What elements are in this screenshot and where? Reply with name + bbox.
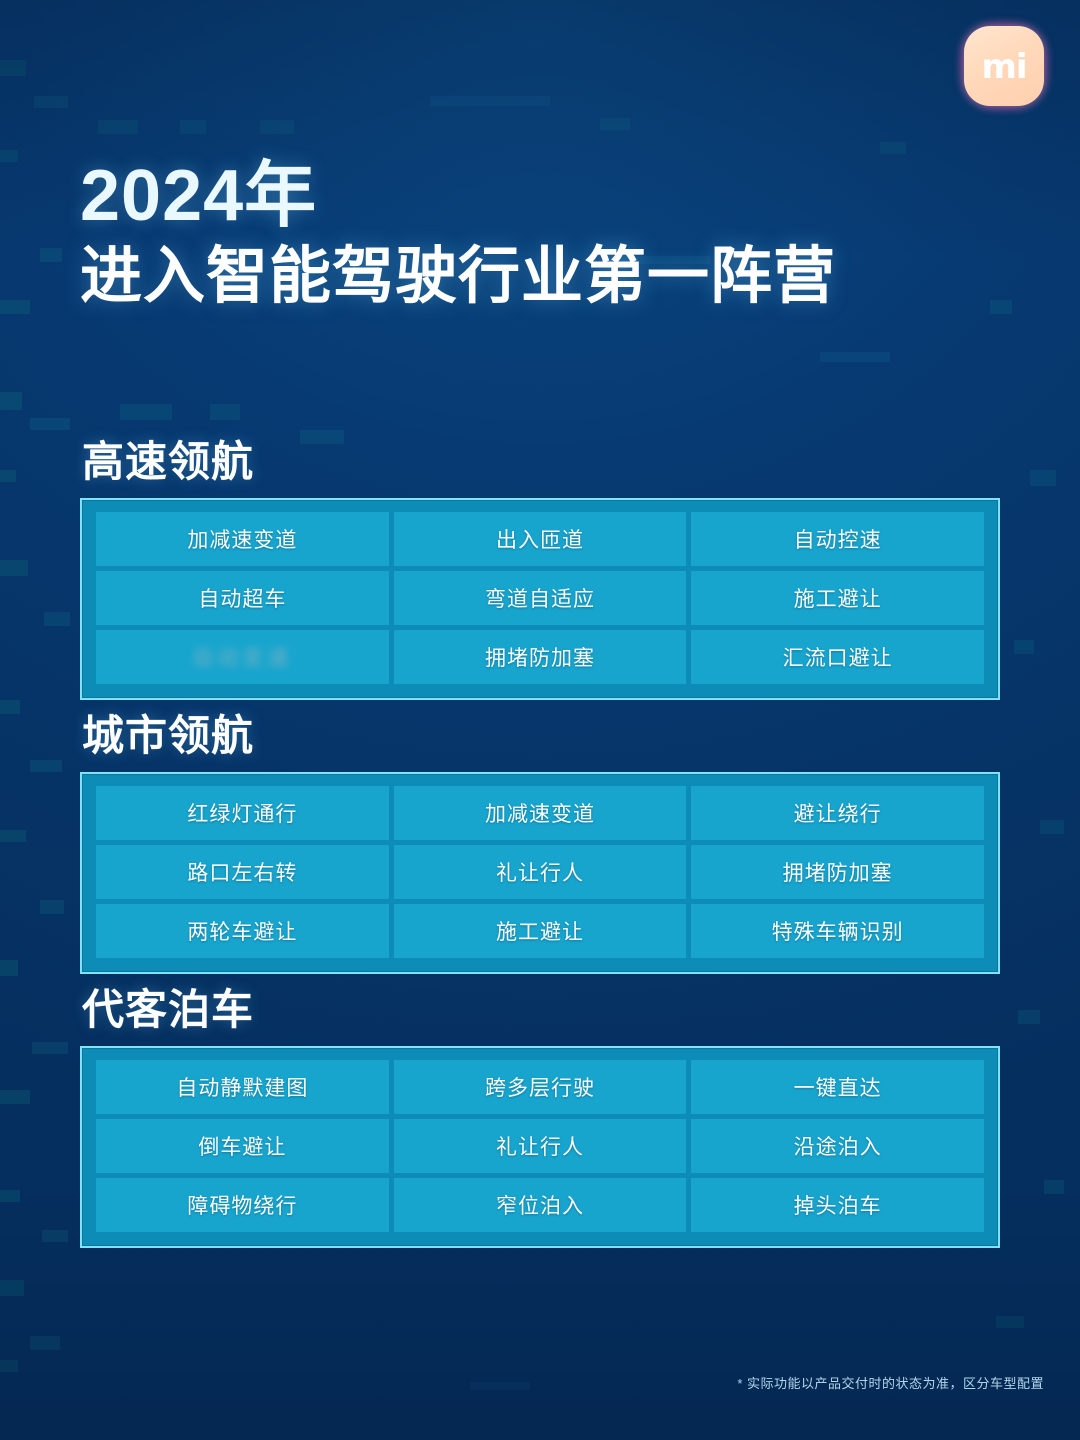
headline: 2024年 进入智能驾驶行业第一阵营 (80, 160, 836, 315)
feature-label: 沿途泊入 (794, 1131, 882, 1161)
feature-label: 拥堵防加塞 (783, 857, 893, 887)
feature-label: 障碍物绕行 (187, 1190, 297, 1220)
feature-label: 自动变道 (192, 642, 292, 672)
feature-cell[interactable]: 路口左右转 (96, 845, 389, 899)
feature-cell[interactable]: 出入匝道 (394, 512, 687, 566)
feature-label: 窄位泊入 (496, 1190, 584, 1220)
feature-grid: 自动静默建图 跨多层行驶 一键直达 倒车避让 礼让行人 沿途泊入 障碍物绕行 窄… (96, 1060, 984, 1232)
disclaimer-text: * 实际功能以产品交付时的状态为准，区分车型配置 (737, 1373, 1044, 1392)
section-valet-parking: 代客泊车 自动静默建图 跨多层行驶 一键直达 倒车避让 礼让行人 沿途泊入 障碍… (80, 988, 1000, 1248)
section-highway: 高速领航 加减速变道 出入匝道 自动控速 自动超车 弯道自适应 施工避让 自动变… (80, 440, 1000, 700)
feature-label: 掉头泊车 (794, 1190, 882, 1220)
feature-label: 拥堵防加塞 (485, 642, 595, 672)
feature-label: 汇流口避让 (783, 642, 893, 672)
feature-panel: 加减速变道 出入匝道 自动控速 自动超车 弯道自适应 施工避让 自动变道 拥堵防… (80, 498, 1000, 700)
poster-root: mi 2024年 进入智能驾驶行业第一阵营 高速领航 加减速变道 出入匝道 自动… (0, 0, 1080, 1440)
feature-cell[interactable]: 掉头泊车 (691, 1178, 984, 1232)
xiaomi-logo: mi (964, 26, 1044, 106)
feature-cell[interactable]: 施工避让 (691, 571, 984, 625)
feature-label: 避让绕行 (794, 798, 882, 828)
feature-cell[interactable]: 倒车避让 (96, 1119, 389, 1173)
feature-grid: 红绿灯通行 加减速变道 避让绕行 路口左右转 礼让行人 拥堵防加塞 两轮车避让 … (96, 786, 984, 958)
feature-label: 自动控速 (794, 524, 882, 554)
feature-cell-obscured[interactable]: 自动变道 (96, 630, 389, 684)
feature-label: 礼让行人 (496, 1131, 584, 1161)
section-title: 高速领航 (82, 440, 1000, 484)
feature-cell[interactable]: 拥堵防加塞 (691, 845, 984, 899)
headline-statement: 进入智能驾驶行业第一阵营 (80, 239, 836, 315)
feature-label: 跨多层行驶 (485, 1072, 595, 1102)
feature-label: 加减速变道 (485, 798, 595, 828)
feature-label: 加减速变道 (187, 524, 297, 554)
feature-cell[interactable]: 加减速变道 (96, 512, 389, 566)
feature-cell[interactable]: 加减速变道 (394, 786, 687, 840)
feature-cell[interactable]: 礼让行人 (394, 1119, 687, 1173)
feature-cell[interactable]: 自动控速 (691, 512, 984, 566)
feature-label: 倒车避让 (198, 1131, 286, 1161)
feature-cell[interactable]: 弯道自适应 (394, 571, 687, 625)
feature-cell[interactable]: 礼让行人 (394, 845, 687, 899)
feature-cell[interactable]: 汇流口避让 (691, 630, 984, 684)
feature-label: 弯道自适应 (485, 583, 595, 613)
feature-cell[interactable]: 两轮车避让 (96, 904, 389, 958)
feature-cell[interactable]: 红绿灯通行 (96, 786, 389, 840)
feature-cell[interactable]: 自动静默建图 (96, 1060, 389, 1114)
feature-cell[interactable]: 沿途泊入 (691, 1119, 984, 1173)
feature-label: 出入匝道 (496, 524, 584, 554)
feature-label: 自动超车 (198, 583, 286, 613)
feature-panel: 自动静默建图 跨多层行驶 一键直达 倒车避让 礼让行人 沿途泊入 障碍物绕行 窄… (80, 1046, 1000, 1248)
feature-cell[interactable]: 拥堵防加塞 (394, 630, 687, 684)
feature-label: 施工避让 (496, 916, 584, 946)
feature-cell[interactable]: 障碍物绕行 (96, 1178, 389, 1232)
logo-squircle: mi (964, 26, 1044, 106)
headline-year: 2024年 (80, 160, 836, 233)
feature-cell[interactable]: 窄位泊入 (394, 1178, 687, 1232)
feature-grid: 加减速变道 出入匝道 自动控速 自动超车 弯道自适应 施工避让 自动变道 拥堵防… (96, 512, 984, 684)
feature-label: 一键直达 (794, 1072, 882, 1102)
feature-label: 自动静默建图 (176, 1072, 308, 1102)
feature-label: 路口左右转 (187, 857, 297, 887)
feature-cell[interactable]: 跨多层行驶 (394, 1060, 687, 1114)
feature-cell[interactable]: 一键直达 (691, 1060, 984, 1114)
section-city: 城市领航 红绿灯通行 加减速变道 避让绕行 路口左右转 礼让行人 拥堵防加塞 两… (80, 714, 1000, 974)
section-title: 代客泊车 (82, 988, 1000, 1032)
feature-label: 礼让行人 (496, 857, 584, 887)
feature-cell[interactable]: 特殊车辆识别 (691, 904, 984, 958)
feature-label: 施工避让 (794, 583, 882, 613)
feature-label: 两轮车避让 (187, 916, 297, 946)
logo-mi-text: mi (981, 50, 1026, 84)
feature-cell[interactable]: 避让绕行 (691, 786, 984, 840)
feature-label: 特殊车辆识别 (772, 916, 904, 946)
sections-container: 高速领航 加减速变道 出入匝道 自动控速 自动超车 弯道自适应 施工避让 自动变… (80, 440, 1000, 1248)
feature-cell[interactable]: 自动超车 (96, 571, 389, 625)
feature-cell[interactable]: 施工避让 (394, 904, 687, 958)
feature-label: 红绿灯通行 (187, 798, 297, 828)
feature-panel: 红绿灯通行 加减速变道 避让绕行 路口左右转 礼让行人 拥堵防加塞 两轮车避让 … (80, 772, 1000, 974)
section-title: 城市领航 (82, 714, 1000, 758)
